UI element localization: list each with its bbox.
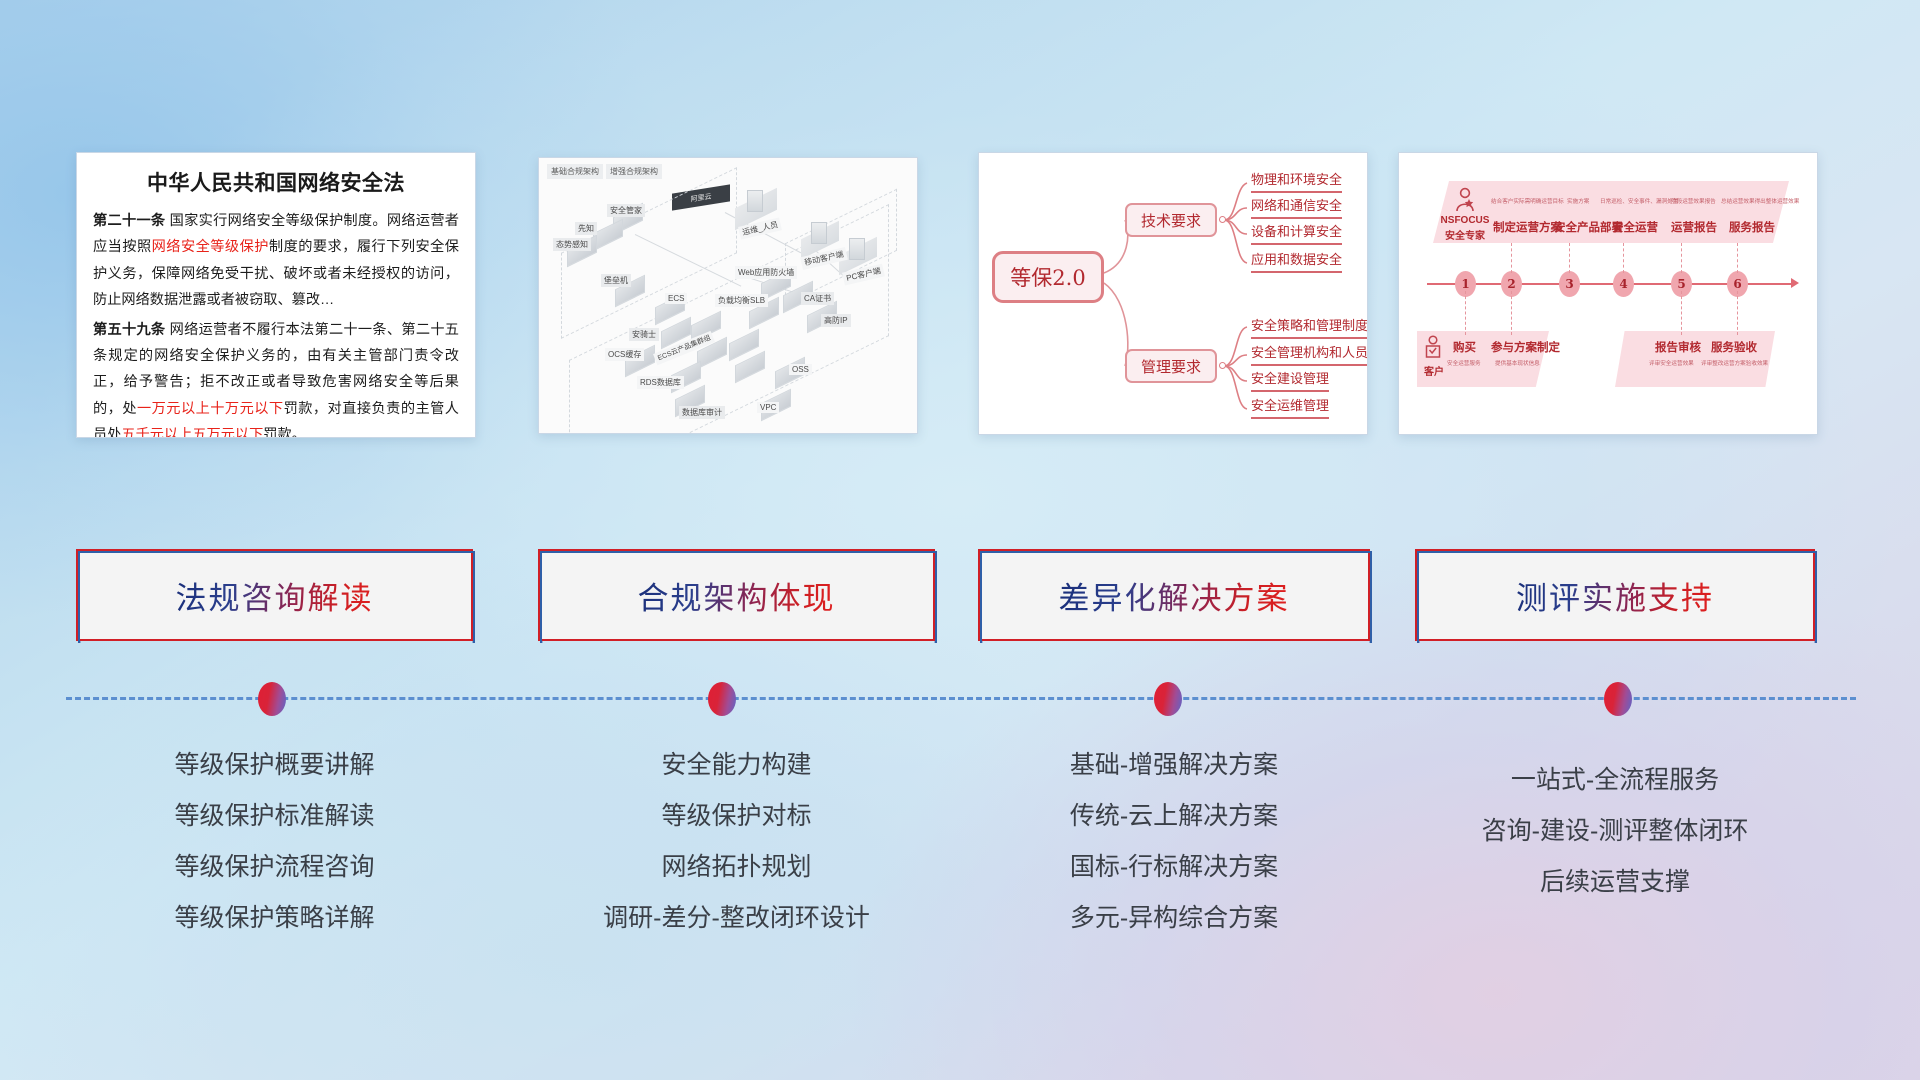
timeline-dot-1[interactable] <box>258 682 286 716</box>
architecture-label-shishiganzhi: 态势感知 <box>553 238 591 251</box>
security-expert-icon <box>1453 187 1477 213</box>
law-article-59-highlight-1: 一万元以上十万元以下 <box>137 401 284 417</box>
roadmap-connector <box>1465 291 1466 335</box>
detail-column-3: 基础-增强解决方案 传统-云上解决方案 国标-行标解决方案 多元-异构综合方案 <box>978 740 1370 944</box>
architecture-tabs: 基础合规架构 增强合规架构 <box>547 164 662 179</box>
roadmap-connector <box>1623 243 1624 273</box>
law-article-59-text-c: 罚款。 <box>263 427 306 438</box>
mindmap-leaf: 物理和环境安全 <box>1251 169 1342 193</box>
roadmap-connector <box>1737 291 1738 335</box>
mindmap-branch-technical[interactable]: 技术要求 <box>1125 203 1217 237</box>
law-title: 中华人民共和国网络安全法 <box>93 167 459 197</box>
detail-item: 传统-云上解决方案 <box>978 791 1370 842</box>
mindmap-leaf: 设备和计算安全 <box>1251 221 1342 245</box>
roadmap-bottom-big: 服务验收 <box>1711 339 1757 355</box>
detail-item: 安全能力构建 <box>538 740 935 791</box>
tab-enhanced-architecture[interactable]: 增强合规架构 <box>606 164 662 179</box>
headline-label-2: 合规架构体现 <box>638 573 836 618</box>
roadmap-expert-label-line2: 安全专家 <box>1439 227 1491 242</box>
headline-box-4[interactable]: 测评实施支持 <box>1415 549 1815 641</box>
architecture-label-anquanguanjia: 安全管家 <box>607 204 645 217</box>
architecture-label-rds-db: RDS数据库 <box>637 376 684 389</box>
card-service-roadmap[interactable]: NSFOCUS 安全专家 客户 结合客户实际需明确运营目标 制定运营方案 实施方… <box>1398 152 1818 435</box>
roadmap-step-node[interactable]: 3 <box>1559 271 1580 297</box>
detail-item: 等级保护对标 <box>538 791 935 842</box>
mindmap-leaf: 安全建设管理 <box>1251 368 1329 392</box>
roadmap-top-big: 运营报告 <box>1671 219 1717 235</box>
roadmap-connector <box>1737 243 1738 273</box>
law-article-59-label: 第五十九条 <box>93 322 165 338</box>
headline-label-1: 法规咨询解读 <box>176 573 374 618</box>
architecture-label-ocs-cache: OCS缓存 <box>605 348 644 361</box>
detail-item: 咨询-建设-测评整体闭环 <box>1415 806 1815 857</box>
roadmap-bottom-small: 安全运营服务 <box>1447 359 1481 367</box>
detail-item: 后续运营支撑 <box>1415 857 1815 908</box>
mindmap-collapse-icon[interactable] <box>1219 362 1226 369</box>
mindmap-leaf: 安全运维管理 <box>1251 395 1329 419</box>
law-article-59: 第五十九条 网络运营者不履行本法第二十一条、第二十五条规定的网络安全保护义务的，… <box>93 317 459 438</box>
roadmap-connector <box>1569 243 1570 273</box>
detail-item: 多元-异构综合方案 <box>978 893 1370 944</box>
roadmap-customer-label: 客户 <box>1421 363 1447 378</box>
detail-item: 等级保护流程咨询 <box>76 842 473 893</box>
architecture-label-waf: Web应用防火墙 <box>735 266 797 279</box>
roadmap-top-big: 服务报告 <box>1729 219 1775 235</box>
roadmap-top-small: 总结运营效果得出整体运营效果 <box>1721 197 1799 205</box>
detail-item: 网络拓扑规划 <box>538 842 935 893</box>
architecture-label-db-audit: 数据库审计 <box>679 406 725 419</box>
roadmap-bottom-big: 报告审核 <box>1655 339 1701 355</box>
architecture-server-icon <box>811 222 827 244</box>
detail-item: 等级保护标准解读 <box>76 791 473 842</box>
architecture-server-icon <box>747 190 763 212</box>
roadmap-top-small: 实施方案 <box>1567 197 1589 205</box>
roadmap-axis-arrow-icon <box>1791 278 1799 288</box>
card-cybersecurity-law[interactable]: 中华人民共和国网络安全法 第二十一条 国家实行网络安全等级保护制度。网络运营者应… <box>76 152 476 438</box>
timeline-dot-2[interactable] <box>708 682 736 716</box>
roadmap-top-small: 阶段运营效果报告 <box>1671 197 1716 205</box>
card-compliance-architecture[interactable]: 基础合规架构 增强合规架构 阿里云 <box>538 157 918 434</box>
roadmap-bottom-big: 参与方案制定 <box>1491 339 1560 355</box>
detail-item: 国标-行标解决方案 <box>978 842 1370 893</box>
headline-box-2[interactable]: 合规架构体现 <box>538 549 935 641</box>
law-article-21-highlight: 网络安全等级保护 <box>152 239 269 255</box>
roadmap-bottom-small: 评审安全运营效果 <box>1649 359 1694 367</box>
architecture-label-slb: 负载均衡SLB <box>715 294 768 307</box>
roadmap-bottom-small: 提供基本现状信息 <box>1495 359 1540 367</box>
timeline-dot-4[interactable] <box>1604 682 1632 716</box>
detail-column-1: 等级保护概要讲解 等级保护标准解读 等级保护流程咨询 等级保护策略详解 <box>76 740 473 944</box>
card-mindmap-dengbao[interactable]: 等保2.0 技术要求 物理和环境安全 网络和通信安全 设备和计算安全 应用和数据… <box>978 152 1368 435</box>
roadmap-connector <box>1681 243 1682 273</box>
roadmap-expert-label-line1: NSFOCUS <box>1439 215 1491 226</box>
roadmap-connector <box>1511 243 1512 273</box>
timeline-dot-3[interactable] <box>1154 682 1182 716</box>
detail-item: 等级保护概要讲解 <box>76 740 473 791</box>
architecture-server-icon <box>849 238 865 260</box>
law-article-21: 第二十一条 国家实行网络安全等级保护制度。网络运营者应当按照网络安全等级保护制度… <box>93 208 459 314</box>
mindmap-leaf: 安全管理机构和人员 <box>1251 342 1368 366</box>
architecture-label-xianzhi: 先知 <box>575 222 597 235</box>
roadmap-step-node[interactable]: 4 <box>1613 271 1634 297</box>
detail-item: 等级保护策略详解 <box>76 893 473 944</box>
architecture-label-vpc: VPC <box>757 402 779 413</box>
mindmap-leaf: 网络和通信安全 <box>1251 195 1342 219</box>
customer-icon <box>1423 335 1443 361</box>
architecture-label-anti-ddos-ip: 高防IP <box>821 314 851 327</box>
timeline-dashed-line <box>66 697 1856 700</box>
law-article-21-label: 第二十一条 <box>93 213 165 229</box>
roadmap-top-big: 制定运营方案 <box>1493 219 1562 235</box>
detail-item: 一站式-全流程服务 <box>1415 755 1815 806</box>
roadmap-top-big: 安全运营 <box>1612 219 1658 235</box>
roadmap-bottom-small: 评审整改运营方案验收效果 <box>1701 359 1768 367</box>
detail-item: 基础-增强解决方案 <box>978 740 1370 791</box>
roadmap-connector <box>1681 291 1682 335</box>
architecture-label-anqishi: 安骑士 <box>629 328 659 341</box>
architecture-label-ecs: ECS <box>665 293 687 304</box>
detail-column-2: 安全能力构建 等级保护对标 网络拓扑规划 调研-差分-整改闭环设计 <box>538 740 935 944</box>
mindmap-leaf: 应用和数据安全 <box>1251 249 1342 273</box>
detail-column-4: 一站式-全流程服务 咨询-建设-测评整体闭环 后续运营支撑 <box>1415 755 1815 908</box>
law-article-59-highlight-2: 五千元以上五万元以下 <box>121 427 263 438</box>
roadmap-top-small: 日常巡检、安全事件、漏洞处置 <box>1600 197 1678 205</box>
mindmap-branch-management[interactable]: 管理要求 <box>1125 349 1217 383</box>
headline-label-4: 测评实施支持 <box>1516 573 1714 618</box>
architecture-label-ca-cert: CA证书 <box>801 292 834 305</box>
roadmap-connector <box>1511 291 1512 335</box>
preview-cards-row: 中华人民共和国网络安全法 第二十一条 国家实行网络安全等级保护制度。网络运营者应… <box>0 0 1920 470</box>
roadmap-bottom-big: 购买 <box>1453 339 1476 355</box>
architecture-label-baoleiji: 堡垒机 <box>601 274 631 287</box>
headline-box-1[interactable]: 法规咨询解读 <box>76 549 473 641</box>
mindmap-leaf: 安全策略和管理制度 <box>1251 315 1368 339</box>
mindmap-root-node[interactable]: 等保2.0 <box>992 251 1104 303</box>
headline-box-3[interactable]: 差异化解决方案 <box>978 549 1370 641</box>
headline-label-3: 差异化解决方案 <box>1059 573 1290 618</box>
tab-basic-architecture[interactable]: 基础合规架构 <box>547 164 603 179</box>
architecture-label-oss: OSS <box>789 364 812 375</box>
roadmap-top-small: 结合客户实际需明确运营目标 <box>1491 197 1564 205</box>
mindmap-collapse-icon[interactable] <box>1219 216 1226 223</box>
detail-item: 调研-差分-整改闭环设计 <box>538 893 935 944</box>
